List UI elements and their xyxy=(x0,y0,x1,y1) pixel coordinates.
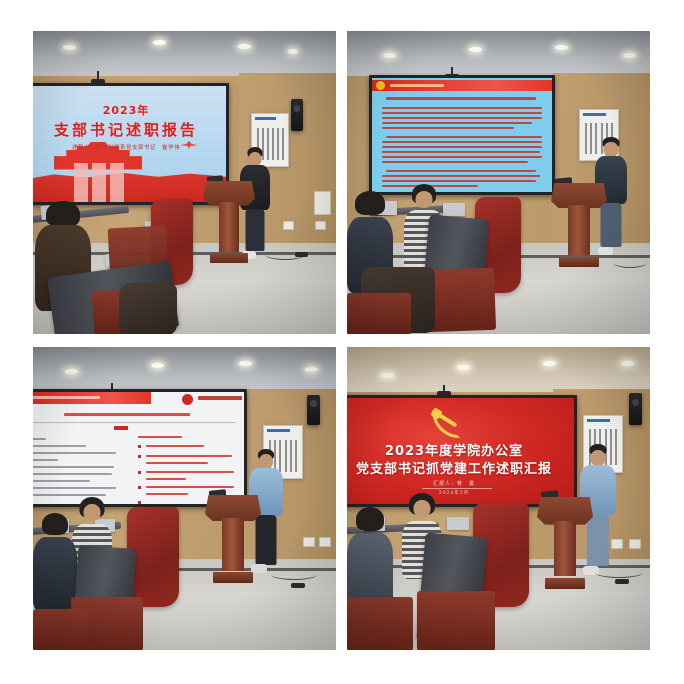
downlight xyxy=(469,47,482,52)
wall-speaker xyxy=(629,393,642,425)
chair-frame xyxy=(417,591,495,650)
collage-panel-bottom-left xyxy=(33,347,336,650)
collage-panel-top-right xyxy=(347,31,650,334)
collage-panel-bottom-right: 2023年度学院办公室 党支部书记抓党建工作述职汇报 汇报人：蒋 勇 2024年… xyxy=(347,347,650,650)
wall-outlet xyxy=(629,539,641,549)
downlight xyxy=(63,45,76,50)
downlight xyxy=(543,361,556,366)
downlight xyxy=(621,361,634,366)
dark-coat xyxy=(119,283,177,334)
slide-subtitle: 汇报人：蒋 勇 xyxy=(347,480,574,487)
downlight xyxy=(238,44,251,49)
projection-screen xyxy=(369,75,555,195)
floor-box xyxy=(295,252,308,257)
chair-frame xyxy=(347,597,413,650)
slide-title-year: 2023年 xyxy=(33,102,226,118)
floor-box xyxy=(615,579,629,584)
laptop xyxy=(443,203,465,216)
collage-panel-top-left: 2023年 支部书记述职报告 述职人：数学科学系党支部书记 崔学伟 xyxy=(33,31,336,334)
downlight xyxy=(457,365,470,370)
floor-cable xyxy=(595,567,643,578)
wall-panel xyxy=(314,191,331,215)
wall-outlet xyxy=(303,537,315,547)
badge-icon xyxy=(376,81,385,90)
slide-title-line2: 党支部书记抓党建工作述职汇报 xyxy=(347,458,574,477)
floor-box xyxy=(291,583,305,588)
chair-frame xyxy=(33,609,89,650)
podium xyxy=(203,181,255,263)
wall-speaker xyxy=(291,99,303,131)
photo-collage: 2023年 支部书记述职报告 述职人：数学科学系党支部书记 崔学伟 xyxy=(0,0,684,684)
chair-frame xyxy=(347,293,411,334)
downlight xyxy=(381,373,394,378)
slide-subtitle: 述职人：数学科学系党支部书记 崔学伟 xyxy=(33,143,226,151)
floor-cable xyxy=(271,569,317,580)
downlight xyxy=(623,53,636,58)
downlight xyxy=(555,45,568,50)
projection-screen: 2023年度学院办公室 党支部书记抓党建工作述职汇报 汇报人：蒋 勇 2024年… xyxy=(347,395,577,507)
downlight xyxy=(153,40,166,45)
party-emblem-icon xyxy=(430,406,464,436)
university-logo xyxy=(182,394,193,405)
podium xyxy=(537,497,593,589)
downlight xyxy=(383,53,396,58)
downlight xyxy=(151,363,164,368)
laptop xyxy=(447,517,469,530)
slide-title-line1: 2023年度学院办公室 xyxy=(347,440,574,459)
wall-outlet xyxy=(283,221,294,230)
floor-cable xyxy=(613,257,647,268)
slide-title-main: 支部书记述职报告 xyxy=(33,119,226,140)
downlight xyxy=(305,367,318,372)
podium xyxy=(205,495,261,583)
downlight xyxy=(239,361,252,366)
wall-outlet xyxy=(319,537,331,547)
downlight xyxy=(288,49,298,54)
podium xyxy=(551,183,607,267)
projection-screen: 2023年 支部书记述职报告 述职人：数学科学系党支部书记 崔学伟 xyxy=(33,83,229,205)
downlight xyxy=(65,369,78,374)
wall-outlet xyxy=(315,221,326,230)
wall-speaker xyxy=(307,395,320,425)
